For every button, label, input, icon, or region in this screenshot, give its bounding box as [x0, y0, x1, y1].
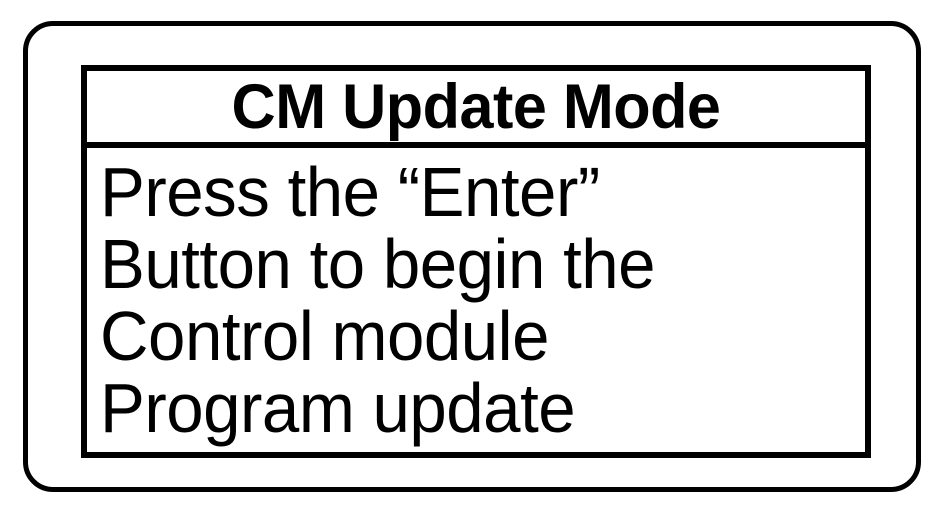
- lcd-screen: CM Update Mode Press the “Enter” Button …: [81, 65, 871, 458]
- screen-title: CM Update Mode: [232, 75, 721, 139]
- screen-message-body: Press the “Enter” Button to begin the Co…: [87, 148, 865, 452]
- message-line: Button to begin the: [100, 228, 834, 300]
- message-line: Control module: [100, 300, 834, 372]
- message-line: Press the “Enter”: [100, 156, 834, 228]
- message-line: Program update: [100, 372, 834, 444]
- device-panel: CM Update Mode Press the “Enter” Button …: [23, 21, 921, 492]
- screen-title-bar: CM Update Mode: [87, 71, 865, 148]
